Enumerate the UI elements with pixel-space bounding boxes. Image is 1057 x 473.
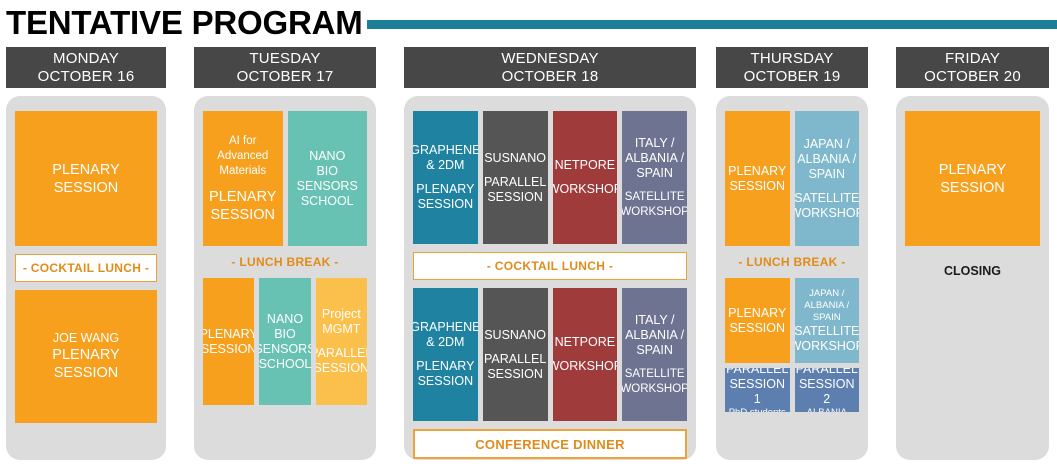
block-line: SPAIN [813,312,841,324]
day-wednesday-card: GRAPHENE& 2DMPLENARYSESSIONSUSNANOPARALL… [404,96,696,460]
block-line: SESSION 2 [796,377,859,407]
block-line: SESSION [54,364,118,382]
day-weekday-label: TUESDAY [249,50,320,68]
day-weekday-label: MONDAY [53,50,119,68]
closing-label: CLOSING [905,246,1040,278]
block-line: SATELLITE [625,190,685,205]
page-title-bar: TENTATIVE PROGRAM [0,0,1057,45]
afternoon-row: PLENARYSESSIONJAPAN /ALBANIA /SPAINSATEL… [725,278,859,363]
morning-row: PLENARYSESSIONJAPAN /ALBANIA /SPAINSATEL… [725,111,859,246]
block-line: SESSION [203,342,254,357]
block-line: ALBANIA / [625,328,684,343]
block-line: PLENARY [939,161,1006,179]
block-line: NANO [267,312,303,327]
day-friday: FRIDAYOCTOBER 20PLENARYSESSIONCLOSING [890,47,1057,473]
session-block[interactable]: NETPOREWORKSHOP [553,111,618,244]
block-line: SENSORS [297,179,358,194]
day-thursday-card: PLENARYSESSIONJAPAN /ALBANIA /SPAINSATEL… [716,96,868,460]
block-line: PARALLEL [726,368,788,377]
block-line: PLENARY [52,161,119,179]
afternoon-row: GRAPHENE& 2DMPLENARYSESSIONSUSNANOPARALL… [413,288,687,421]
block-line: WORKSHOP [553,359,618,374]
session-block[interactable]: GRAPHENE& 2DMPLENARYSESSION [413,288,478,421]
session-block[interactable]: NETPOREWORKSHOP [553,288,618,421]
block-line: PARALLEL [316,346,367,361]
day-date-label: OCTOBER 16 [38,68,135,86]
page-title: TENTATIVE PROGRAM [0,6,363,40]
block-line: SESSION [487,367,543,382]
block-line: GRAPHENE [413,320,478,335]
day-thursday: THURSDAYOCTOBER 19PLENARYSESSIONJAPAN /A… [710,47,890,473]
block-line: SATELLITE [625,367,685,382]
block-line: SESSION [316,361,367,376]
block-line: SESSION [54,179,118,197]
block-line: Materials [219,164,266,179]
morning-row: GRAPHENE& 2DMPLENARYSESSIONSUSNANOPARALL… [413,111,687,244]
break-band[interactable]: - COCKTAIL LUNCH - [413,252,687,280]
session-block[interactable]: GRAPHENE& 2DMPLENARYSESSION [413,111,478,244]
block-line: ALBANIA / [797,152,856,167]
block-line: PLENARY [416,359,474,374]
day-date-label: OCTOBER 18 [502,68,599,86]
afternoon-row-2: PARALLELSESSION 1PhD studentsPARALLELSES… [725,368,859,412]
block-line: SESSION 1 [726,377,789,407]
day-wednesday-header[interactable]: WEDNESDAYOCTOBER 18 [404,47,696,88]
morning-row: PLENARYSESSION [15,111,157,246]
day-weekday-label: FRIDAY [945,50,1000,68]
block-line: JAPAN / [809,288,844,300]
block-line: ALBANIA / [804,300,849,312]
block-line: PLENARY [416,182,474,197]
block-line: WORKSHOP [553,182,618,197]
block-line: PhD students [729,407,786,413]
block-line: PLENARY [209,188,276,206]
day-thursday-header[interactable]: THURSDAYOCTOBER 19 [716,47,868,88]
afternoon-row: PLENARYSESSIONNANOBIOSENSORSSCHOOLProjec… [203,278,367,405]
session-block[interactable]: JAPAN /ALBANIA /SPAINSATELLITEWORKSHOP [795,111,860,246]
day-tuesday: TUESDAYOCTOBER 17AI forAdvancedMaterials… [188,47,398,473]
block-line: Project [322,307,361,322]
block-line: SUSNANO [484,151,546,166]
block-line: PLENARY [203,327,254,342]
block-line: Advanced [217,149,268,164]
block-line: PLENARY [728,306,786,321]
session-block[interactable]: JOE WANGPLENARYSESSION [15,290,157,423]
session-block[interactable]: PLENARYSESSION [203,278,254,405]
week-schedule-grid: MONDAYOCTOBER 16PLENARYSESSION- COCKTAIL… [0,47,1057,473]
break-band[interactable]: - LUNCH BREAK - [203,246,367,278]
session-block[interactable]: ITALY /ALBANIA /SPAINSATELLITEWORKSHOP [622,111,687,244]
block-line: SPAIN [636,343,673,358]
block-line: BIO [316,164,338,179]
day-monday-header[interactable]: MONDAYOCTOBER 16 [6,47,166,88]
block-line: WORKSHOP [795,206,860,221]
day-monday: MONDAYOCTOBER 16PLENARYSESSION- COCKTAIL… [0,47,188,473]
break-band[interactable]: - LUNCH BREAK - [725,246,859,278]
session-block[interactable]: JAPAN /ALBANIA /SPAINSATELLITEWORKSHOP [795,278,860,363]
block-line: PARALLEL [484,175,546,190]
block-line: ITALY / [635,313,675,328]
block-line: SATELLITE [795,324,860,339]
session-block[interactable]: PARALLELSESSION 1PhD students [725,368,790,412]
block-line: SPAIN [636,166,673,181]
session-block[interactable]: ProjectMGMTPARALLELSESSION [316,278,367,405]
block-line: SPAIN [808,167,845,182]
session-block[interactable]: PLENARYSESSION [725,111,790,246]
block-line: SESSION [418,197,474,212]
block-line: SCHOOL [301,194,354,209]
session-block[interactable]: AI forAdvancedMaterialsPLENARYSESSION [203,111,283,246]
session-block[interactable]: PLENARYSESSION [905,111,1040,246]
block-line: SATELLITE [795,191,860,206]
block-line: ALBANIA [807,407,847,413]
day-tuesday-header[interactable]: TUESDAYOCTOBER 17 [194,47,376,88]
conference-dinner-band[interactable]: CONFERENCE DINNER [413,429,687,459]
block-line: SESSION [729,321,785,336]
block-line: PARALLEL [484,352,546,367]
morning-row: PLENARYSESSION [905,111,1040,246]
day-weekday-label: WEDNESDAY [501,50,598,68]
block-line: SESSION [729,179,785,194]
block-line: SENSORS [259,342,310,357]
block-line: GRAPHENE [413,143,478,158]
session-block[interactable]: NANOBIOSENSORSSCHOOL [259,278,310,405]
block-line: SESSION [211,206,275,224]
block-line: SESSION [418,374,474,389]
day-weekday-label: THURSDAY [751,50,834,68]
day-date-label: OCTOBER 17 [237,68,334,86]
block-line: ALBANIA / [625,151,684,166]
morning-row: AI forAdvancedMaterialsPLENARYSESSIONNAN… [203,111,367,246]
block-line: & 2DM [426,335,464,350]
block-line: WORKSHOP [622,205,687,220]
session-block[interactable]: SUSNANOPARALLELSESSION [483,288,548,421]
day-date-label: OCTOBER 19 [744,68,841,86]
block-line: SCHOOL [259,357,310,372]
block-line: WORKSHOP [622,382,687,397]
day-friday-card: PLENARYSESSIONCLOSING [896,96,1049,460]
session-block[interactable]: PLENARYSESSION [725,278,790,363]
block-line: BIO [274,327,296,342]
block-line: NETPORE [555,335,615,350]
block-line: JOE WANG [53,331,119,346]
block-line: SESSION [940,179,1004,197]
session-block[interactable]: PARALLELSESSION 2ALBANIA [795,368,860,412]
block-line: & 2DM [426,158,464,173]
block-line: PARALLEL [796,368,858,377]
block-line: JAPAN / [804,137,850,152]
block-line: SUSNANO [484,328,546,343]
break-band[interactable]: - COCKTAIL LUNCH - [15,254,157,282]
block-line: SESSION [487,190,543,205]
day-friday-header[interactable]: FRIDAYOCTOBER 20 [896,47,1049,88]
day-date-label: OCTOBER 20 [924,68,1021,86]
block-line: WORKSHOP [795,339,860,354]
day-tuesday-card: AI forAdvancedMaterialsPLENARYSESSIONNAN… [194,96,376,460]
block-line: ITALY / [635,136,675,151]
session-block[interactable]: ITALY /ALBANIA /SPAINSATELLITEWORKSHOP [622,288,687,421]
afternoon-row: JOE WANGPLENARYSESSION [15,290,157,423]
day-wednesday: WEDNESDAYOCTOBER 18GRAPHENE& 2DMPLENARYS… [398,47,710,473]
block-line: AI for [229,134,256,149]
session-block[interactable]: SUSNANOPARALLELSESSION [483,111,548,244]
block-line: PLENARY [728,164,786,179]
block-line: PLENARY [52,346,119,364]
block-line: NETPORE [555,158,615,173]
title-accent-rule [367,20,1057,29]
session-block[interactable]: NANOBIOSENSORSSCHOOL [288,111,368,246]
session-block[interactable]: PLENARYSESSION [15,111,157,246]
day-monday-card: PLENARYSESSION- COCKTAIL LUNCH -JOE WANG… [6,96,166,460]
block-line: NANO [309,149,345,164]
block-line: MGMT [322,322,360,337]
